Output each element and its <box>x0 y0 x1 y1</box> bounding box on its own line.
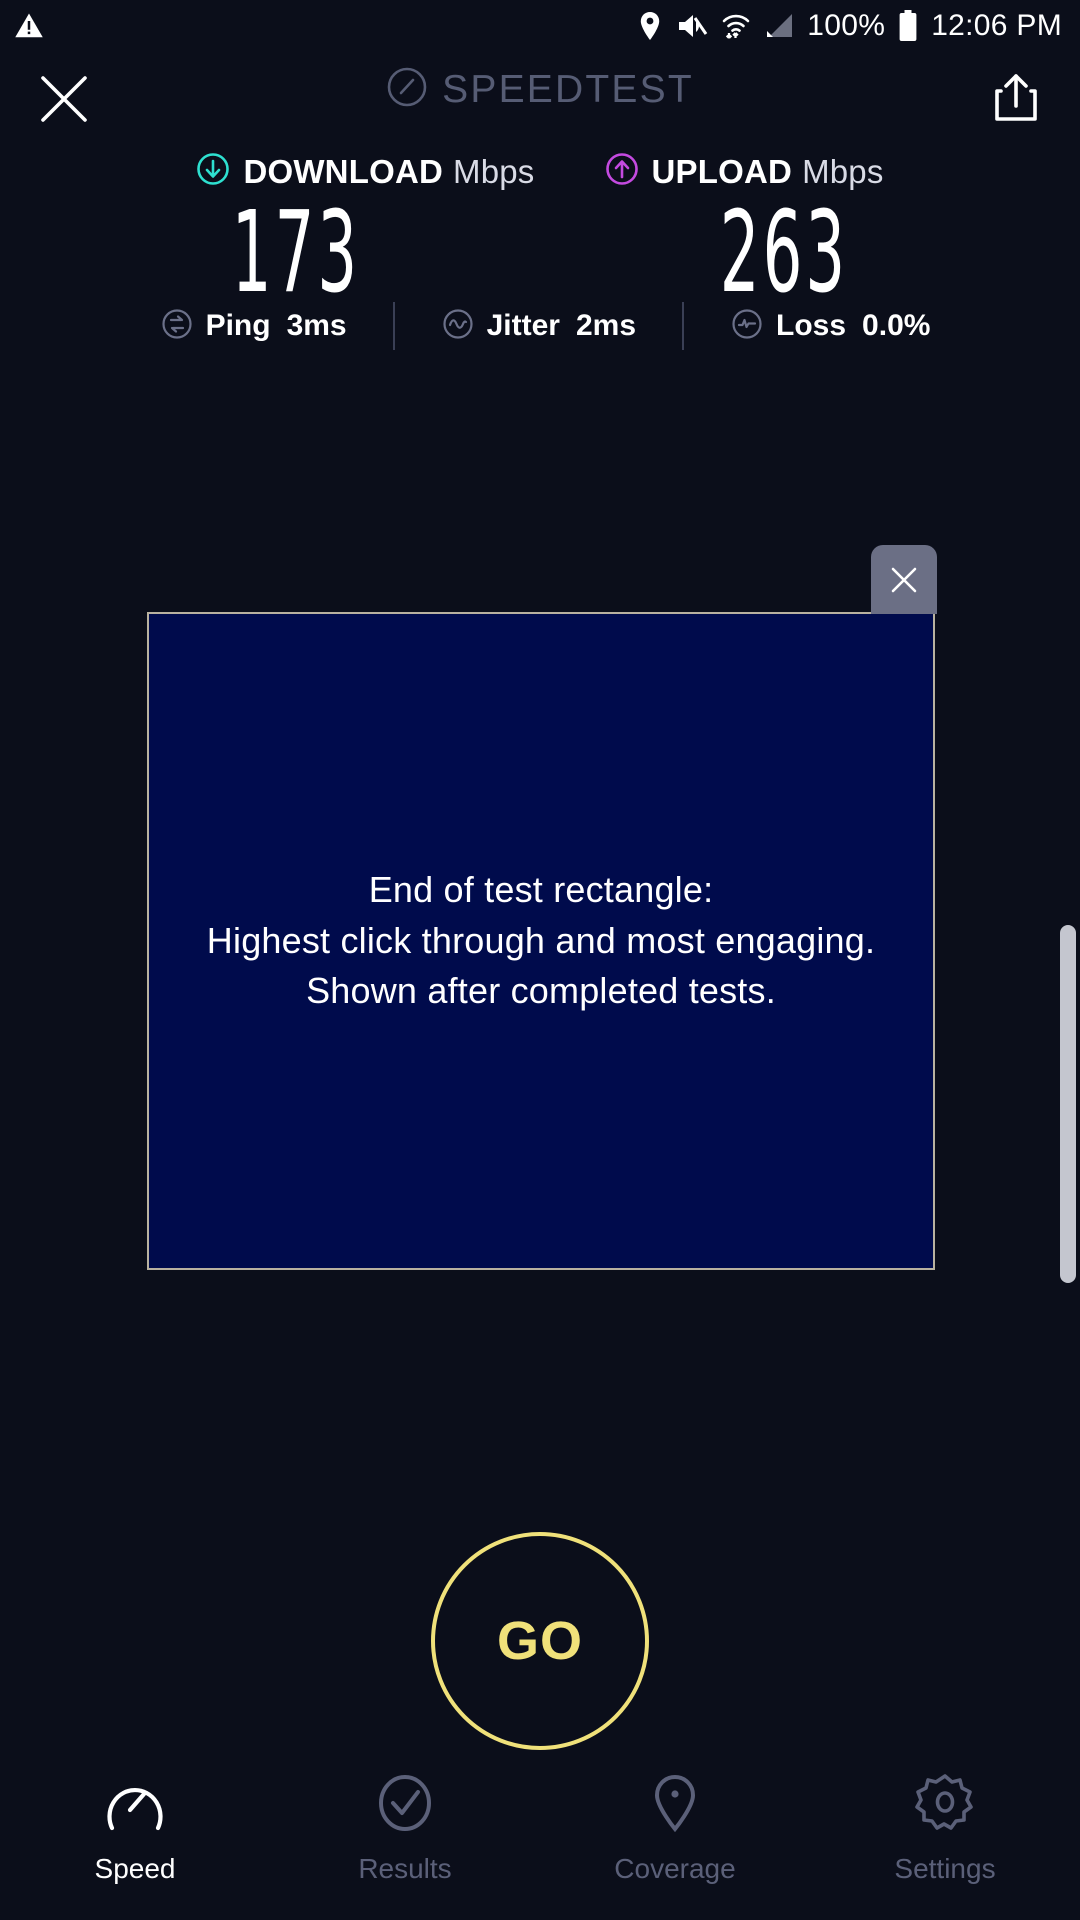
stat-ping-value: 3ms <box>287 309 347 343</box>
download-header: DOWNLOAD Mbps <box>196 152 534 191</box>
wifi-icon <box>721 11 751 41</box>
bottom-navigation: Speed Results Coverage <box>0 1760 1080 1920</box>
stat-loss-value: 0.0% <box>862 309 930 343</box>
stat-loss: Loss 0.0% <box>730 307 938 346</box>
brand-logo: SPEEDTEST <box>0 66 1080 113</box>
volume-muted-icon <box>676 12 708 40</box>
status-bar-right: 100% 12:06 PM <box>637 10 1062 42</box>
cellular-signal-icon <box>764 12 794 40</box>
ping-icon <box>160 307 194 346</box>
advertisement: End of test rectangle: Highest click thr… <box>147 612 935 1270</box>
nav-item-speed[interactable]: Speed <box>0 1774 270 1885</box>
status-bar-left <box>14 11 44 41</box>
ad-close-button[interactable] <box>871 545 937 614</box>
nav-label-coverage: Coverage <box>614 1853 735 1885</box>
metric-values: 173 263 <box>0 193 1080 314</box>
arrow-down-circle-icon <box>196 152 230 191</box>
nav-label-results: Results <box>358 1853 451 1885</box>
go-button-label: GO <box>497 1610 583 1672</box>
location-pin-icon <box>644 1774 706 1837</box>
vertical-scrollbar[interactable] <box>1060 925 1076 1283</box>
upload-label: UPLOAD <box>652 153 793 191</box>
download-value: 173 <box>194 193 399 314</box>
ad-text-line-1: End of test rectangle: <box>207 865 875 915</box>
stat-loss-label: Loss <box>776 309 846 343</box>
download-label: DOWNLOAD <box>243 153 443 191</box>
stat-divider <box>682 302 684 350</box>
connection-stats: Ping 3ms Jitter 2ms Loss 0.0 <box>0 302 1080 350</box>
stat-divider <box>393 302 395 350</box>
test-results: DOWNLOAD Mbps UPLOAD Mbps 173 263 <box>0 152 1080 314</box>
speedometer-icon <box>104 1774 166 1837</box>
loss-icon <box>730 307 764 346</box>
upload-unit: Mbps <box>802 153 884 191</box>
download-unit: Mbps <box>453 153 535 191</box>
go-button[interactable]: GO <box>431 1532 649 1750</box>
battery-full-icon <box>898 10 918 42</box>
nav-label-speed: Speed <box>95 1853 176 1885</box>
nav-item-settings[interactable]: Settings <box>810 1774 1080 1885</box>
nav-item-coverage[interactable]: Coverage <box>540 1774 810 1885</box>
status-bar: 100% 12:06 PM <box>0 0 1080 52</box>
ad-text: End of test rectangle: Highest click thr… <box>207 865 875 1016</box>
metric-headers: DOWNLOAD Mbps UPLOAD Mbps <box>0 152 1080 191</box>
check-circle-icon <box>374 1774 436 1837</box>
speedometer-icon <box>386 66 428 113</box>
share-icon <box>993 73 1039 125</box>
nav-item-results[interactable]: Results <box>270 1774 540 1885</box>
ad-text-line-2: Highest click through and most engaging. <box>207 916 875 966</box>
ad-text-line-3: Shown after completed tests. <box>207 966 875 1016</box>
stat-jitter-label: Jitter <box>487 309 560 343</box>
battery-percent-label: 100% <box>807 11 885 41</box>
jitter-icon <box>441 307 475 346</box>
speedtest-app-screen: 100% 12:06 PM SPEEDTEST <box>0 0 1080 1920</box>
stat-jitter-value: 2ms <box>576 309 636 343</box>
share-button[interactable] <box>985 68 1047 130</box>
clock-label: 12:06 PM <box>931 11 1062 41</box>
stat-ping: Ping 3ms <box>142 307 347 346</box>
stat-jitter: Jitter 2ms <box>441 307 636 346</box>
app-header: SPEEDTEST <box>0 52 1080 146</box>
close-icon <box>888 564 920 596</box>
arrow-up-circle-icon <box>605 152 639 191</box>
warning-triangle-icon <box>14 11 44 41</box>
upload-value: 263 <box>682 193 887 314</box>
location-pin-icon <box>637 11 663 41</box>
ad-creative[interactable]: End of test rectangle: Highest click thr… <box>147 612 935 1270</box>
brand-title: SPEEDTEST <box>442 68 694 112</box>
stat-ping-label: Ping <box>206 309 271 343</box>
gear-icon <box>914 1774 976 1837</box>
nav-label-settings: Settings <box>894 1853 995 1885</box>
upload-header: UPLOAD Mbps <box>605 152 884 191</box>
